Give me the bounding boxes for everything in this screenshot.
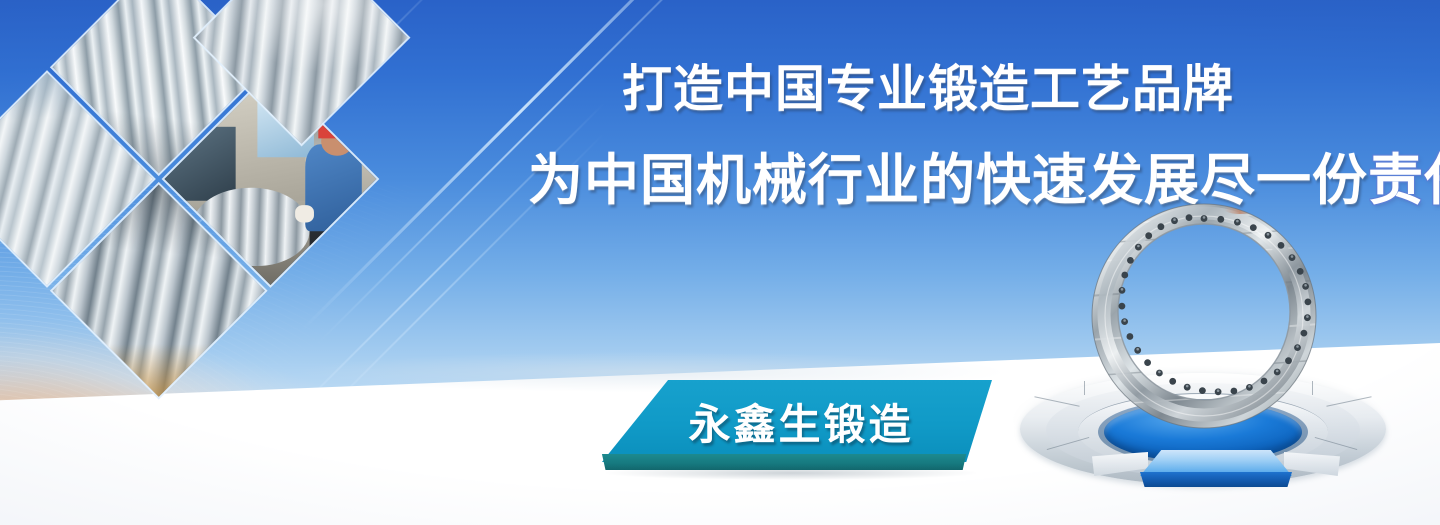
company-name-label: 永鑫生锻造 bbox=[596, 380, 992, 462]
product-showcase bbox=[1000, 205, 1400, 505]
company-name-platform: 永鑫生锻造 bbox=[596, 380, 992, 480]
headline-primary: 打造中国专业锻造工艺品牌 bbox=[622, 60, 1234, 118]
forged-flange-ring-icon bbox=[1088, 200, 1320, 432]
headline-secondary-accent: 责任 bbox=[1368, 149, 1440, 211]
step-front-face bbox=[1140, 472, 1292, 487]
pedestal-glass-step bbox=[1140, 450, 1292, 490]
hero-banner: 打造中国专业锻造工艺品牌 为中国机械行业的快速发展尽一份责任 永鑫生锻造 bbox=[0, 0, 1440, 525]
pedestal-seam bbox=[1084, 381, 1085, 395]
